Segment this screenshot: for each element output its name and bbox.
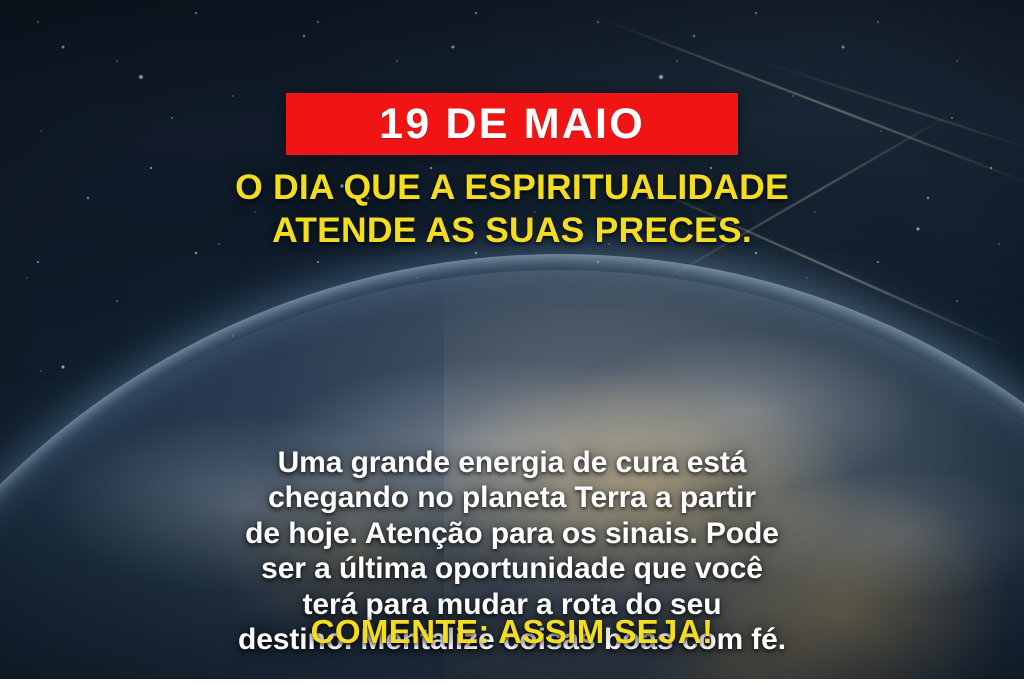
bottom-white-strip bbox=[0, 679, 1024, 685]
poster-content: 19 DE MAIO O DIA QUE A ESPIRITUALIDADE A… bbox=[0, 0, 1024, 685]
headline-line-1: O DIA QUE A ESPIRITUALIDADE bbox=[0, 166, 1024, 209]
call-to-action-text: COMENTE: ASSIM SEJA! bbox=[0, 613, 1024, 651]
date-banner: 19 DE MAIO bbox=[286, 93, 738, 155]
body-line-2: chegando no planeta Terra a partir bbox=[77, 480, 947, 515]
body-line-3: de hoje. Atenção para os sinais. Pode bbox=[77, 516, 947, 551]
headline: O DIA QUE A ESPIRITUALIDADE ATENDE AS SU… bbox=[0, 166, 1024, 253]
body-line-1: Uma grande energia de cura está bbox=[77, 445, 947, 480]
date-banner-text: 19 DE MAIO bbox=[379, 103, 645, 146]
body-line-4: ser a última oportunidade que você bbox=[77, 551, 947, 586]
poster-canvas: 19 DE MAIO O DIA QUE A ESPIRITUALIDADE A… bbox=[0, 0, 1024, 685]
headline-line-2: ATENDE AS SUAS PRECES. bbox=[0, 209, 1024, 252]
